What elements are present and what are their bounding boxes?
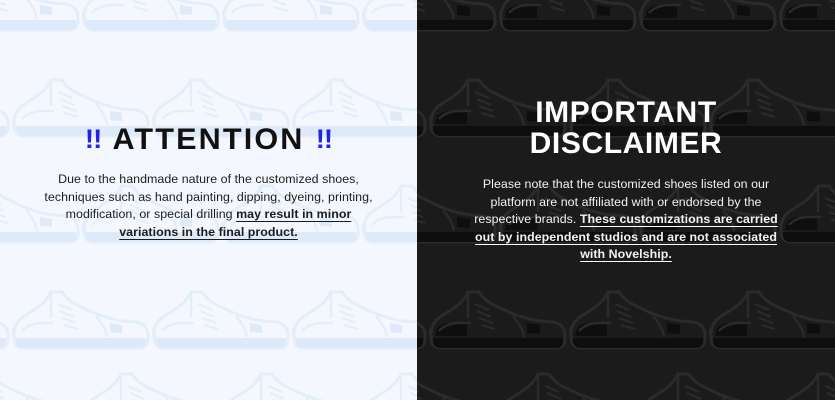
attention-body: Due to the handmade nature of the custom… <box>38 171 379 241</box>
disclaimer-heading-line2: DISCLAIMER <box>469 129 783 160</box>
attention-bang-left: !! <box>85 126 101 154</box>
disclaimer-heading: IMPORTANT DISCLAIMER <box>469 98 783 159</box>
attention-content: !!ATTENTION!! Due to the handmade nature… <box>0 125 417 241</box>
attention-heading: !!ATTENTION!! <box>35 125 383 156</box>
disclaimer-heading-line1: IMPORTANT <box>469 98 783 129</box>
attention-bang-right: !! <box>316 126 332 154</box>
attention-heading-text: ATTENTION <box>112 123 304 156</box>
disclaimer-panel: IMPORTANT DISCLAIMER Please note that th… <box>417 0 835 400</box>
attention-panel: !!ATTENTION!! Due to the handmade nature… <box>0 0 417 400</box>
disclaimer-body: Please note that the customized shoes li… <box>469 176 783 264</box>
disclaimer-banner: !!ATTENTION!! Due to the handmade nature… <box>0 0 835 400</box>
disclaimer-content: IMPORTANT DISCLAIMER Please note that th… <box>417 98 835 264</box>
